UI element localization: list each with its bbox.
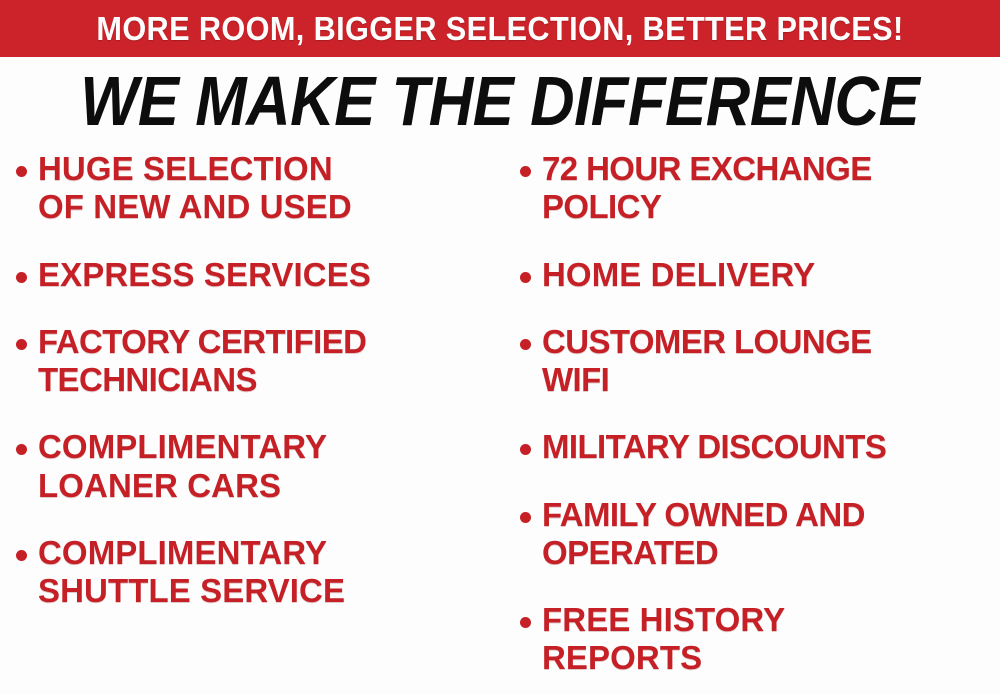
- benefit-item: HOME DELIVERY: [520, 256, 1000, 294]
- benefit-item: COMPLIMENTARY LOANER CARS: [16, 428, 505, 505]
- benefit-item: FAMILY OWNED AND OPERATED: [520, 496, 1000, 573]
- top-banner: MORE ROOM, BIGGER SELECTION, BETTER PRIC…: [0, 0, 1000, 57]
- bullet-dot-icon: [520, 617, 531, 628]
- benefit-label: HUGE SELECTION OF NEW AND USED: [38, 150, 352, 227]
- benefit-label: MILITARY DISCOUNTS: [542, 428, 886, 466]
- benefit-label: CUSTOMER LOUNGE WIFI: [542, 323, 872, 400]
- benefit-item: FACTORY CERTIFIED TECHNICIANS: [16, 323, 505, 400]
- banner-headline-text: MORE ROOM, BIGGER SELECTION, BETTER PRIC…: [96, 10, 903, 48]
- benefits-column-right: 72 HOUR EXCHANGE POLICY HOME DELIVERY CU…: [505, 150, 1000, 694]
- bullet-dot-icon: [520, 339, 531, 350]
- bullet-dot-icon: [520, 444, 531, 455]
- benefit-label: FACTORY CERTIFIED TECHNICIANS: [38, 323, 366, 400]
- benefits-column-left: HUGE SELECTION OF NEW AND USED EXPRESS S…: [0, 150, 505, 694]
- benefit-item: COMPLIMENTARY SHUTTLE SERVICE: [16, 534, 505, 611]
- benefit-item: 72 HOUR EXCHANGE POLICY: [520, 150, 1000, 227]
- bullet-dot-icon: [520, 512, 531, 523]
- headline-container: WE MAKE THE DIFFERENCE: [0, 62, 1000, 140]
- benefits-columns: HUGE SELECTION OF NEW AND USED EXPRESS S…: [0, 150, 1000, 694]
- benefit-label: FREE HISTORY REPORTS: [542, 601, 785, 678]
- benefit-item: EXPRESS SERVICES: [16, 256, 505, 294]
- main-headline: WE MAKE THE DIFFERENCE: [80, 66, 919, 136]
- bullet-dot-icon: [16, 166, 27, 177]
- benefit-item: MILITARY DISCOUNTS: [520, 428, 1000, 466]
- benefit-label: HOME DELIVERY: [542, 256, 815, 294]
- benefit-item: CUSTOMER LOUNGE WIFI: [520, 323, 1000, 400]
- benefit-item: HUGE SELECTION OF NEW AND USED: [16, 150, 505, 227]
- bullet-dot-icon: [16, 550, 27, 561]
- bullet-dot-icon: [520, 272, 531, 283]
- benefit-item: FREE HISTORY REPORTS: [520, 601, 1000, 678]
- benefit-label: EXPRESS SERVICES: [38, 256, 371, 294]
- bullet-dot-icon: [16, 444, 27, 455]
- bullet-dot-icon: [520, 166, 531, 177]
- benefit-label: 72 HOUR EXCHANGE POLICY: [542, 150, 872, 227]
- benefit-label: COMPLIMENTARY SHUTTLE SERVICE: [38, 534, 345, 611]
- dealership-benefits-poster: MORE ROOM, BIGGER SELECTION, BETTER PRIC…: [0, 0, 1000, 694]
- benefit-label: COMPLIMENTARY LOANER CARS: [38, 428, 327, 505]
- bullet-dot-icon: [16, 272, 27, 283]
- benefit-label: FAMILY OWNED AND OPERATED: [542, 496, 865, 573]
- bullet-dot-icon: [16, 339, 27, 350]
